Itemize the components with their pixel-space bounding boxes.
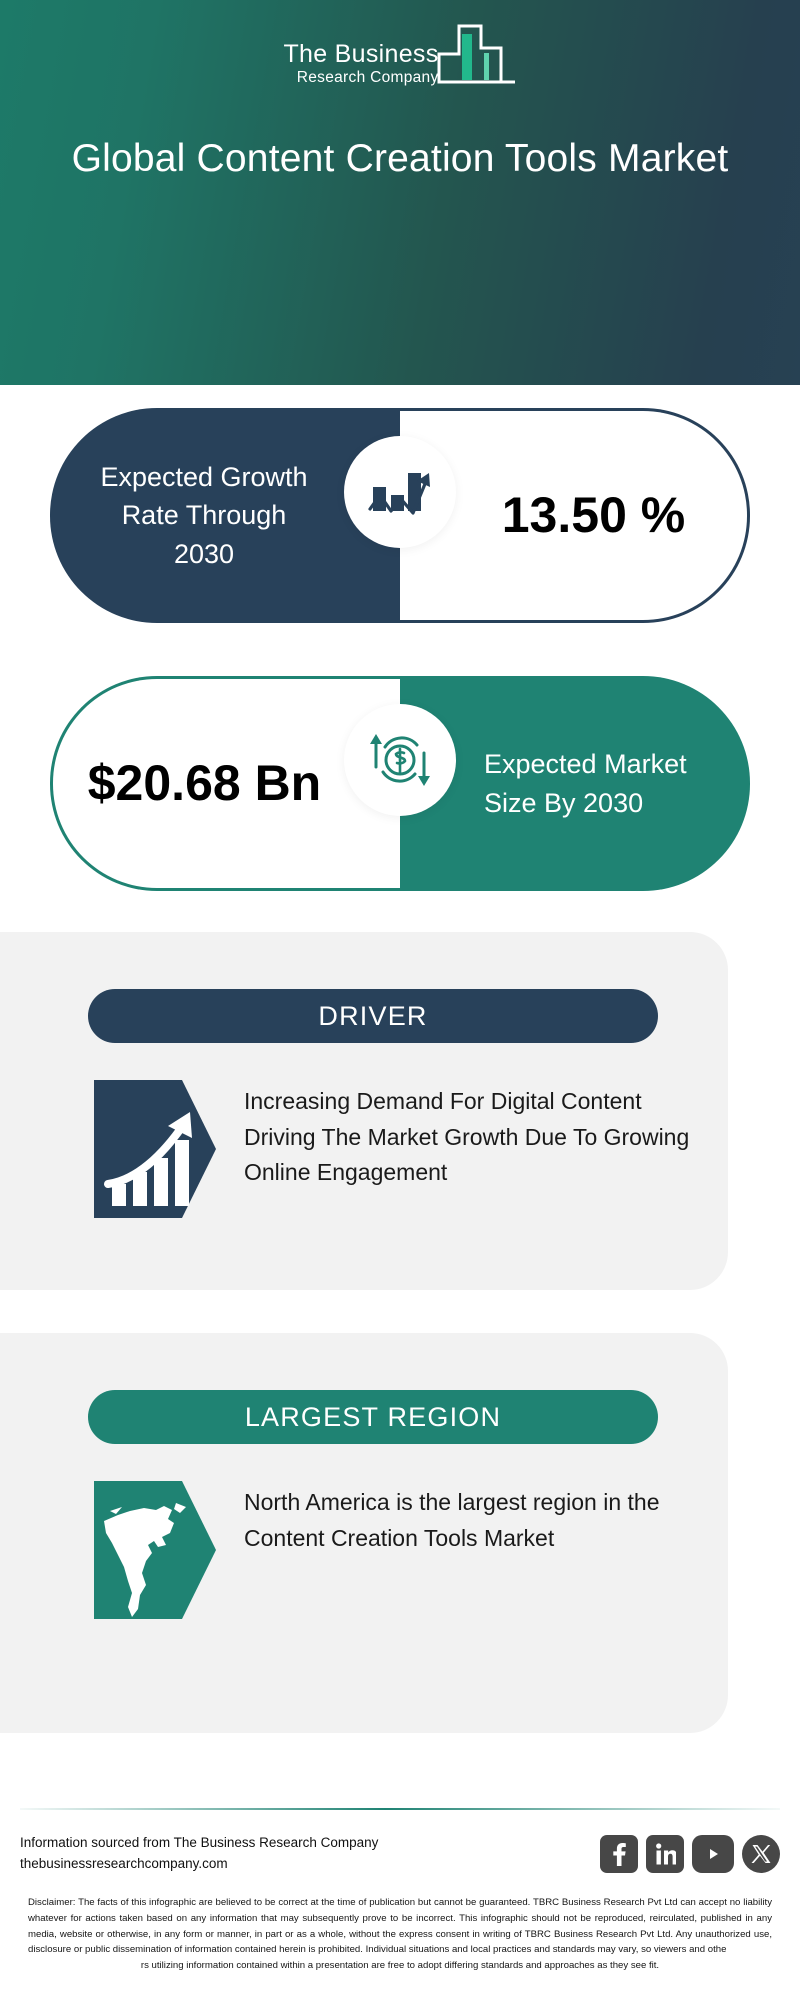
disclaimer-last-line: rs utilizing information contained withi… xyxy=(28,1958,772,1974)
logo-line-1: The Business xyxy=(283,41,438,67)
x-twitter-icon[interactable] xyxy=(742,1835,780,1873)
growth-bar-arrow-icon xyxy=(344,436,456,548)
company-logo: The Business Research Company xyxy=(0,22,800,89)
stat-growth-value-half: 13.50 % xyxy=(400,408,750,623)
stat-size-label-half: Expected Market Size By 2030 xyxy=(400,676,750,891)
stat-growth-value: 13.50 % xyxy=(462,487,685,544)
footer-row: Information sourced from The Business Re… xyxy=(20,1833,780,1875)
largest-region-text: North America is the largest region in t… xyxy=(244,1481,690,1556)
facebook-icon[interactable] xyxy=(600,1835,638,1873)
linkedin-icon[interactable] xyxy=(646,1835,684,1873)
driver-pill: DRIVER xyxy=(88,989,658,1043)
footer-source-line-1: Information sourced from The Business Re… xyxy=(20,1833,378,1854)
page-title: Global Content Creation Tools Market xyxy=(40,134,760,184)
youtube-icon[interactable] xyxy=(692,1835,734,1873)
footer-source-line-2[interactable]: thebusinessresearchcompany.com xyxy=(20,1854,378,1875)
stat-card-growth-rate: Expected Growth Rate Through 2030 13.50 … xyxy=(50,408,750,623)
logo-line-2: Research Company xyxy=(297,68,439,87)
stat-growth-label: Expected Growth Rate Through 2030 xyxy=(89,458,361,573)
stat-growth-label-half: Expected Growth Rate Through 2030 xyxy=(50,408,400,623)
stat-size-value-half: $20.68 Bn xyxy=(50,676,400,891)
social-links xyxy=(600,1835,780,1873)
panel-driver: DRIVER Increasing Demand For Digital Con… xyxy=(0,932,728,1290)
largest-region-pill: LARGEST REGION xyxy=(88,1390,658,1444)
driver-text: Increasing Demand For Digital Content Dr… xyxy=(244,1080,690,1191)
stat-size-value: $20.68 Bn xyxy=(88,755,365,812)
dollar-cycle-icon xyxy=(344,704,456,816)
footer-divider xyxy=(20,1808,780,1810)
bar-chart-logo-mark xyxy=(437,22,517,89)
stat-size-label: Expected Market Size By 2030 xyxy=(436,745,714,822)
footer-source: Information sourced from The Business Re… xyxy=(20,1833,378,1875)
growth-chart-hex-icon xyxy=(94,1080,216,1218)
disclaimer-main: Disclaimer: The facts of this infographi… xyxy=(28,1897,772,1955)
header-banner: The Business Research Company Global Con… xyxy=(0,0,800,385)
panel-largest-region: LARGEST REGION North America is the larg… xyxy=(0,1333,728,1733)
disclaimer-text: Disclaimer: The facts of this infographi… xyxy=(28,1895,772,1974)
north-america-map-hex-icon xyxy=(94,1481,216,1619)
stat-card-market-size: $20.68 Bn Expected Market Size By 2030 xyxy=(50,676,750,891)
